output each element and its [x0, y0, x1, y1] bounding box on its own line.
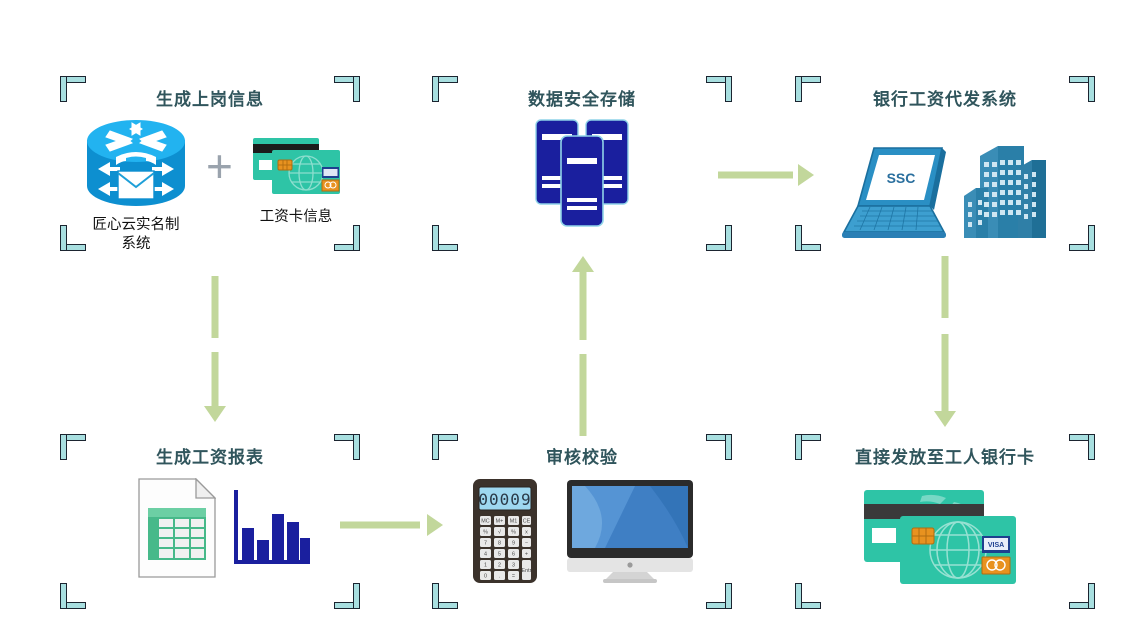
- svg-text:=: =: [512, 574, 515, 580]
- cell-title-audit-verification: 审核校验: [432, 443, 732, 468]
- arrow-report-to-audit: [340, 505, 460, 545]
- svg-text:M1: M1: [510, 519, 518, 525]
- arrow-onboarding-to-report: [195, 276, 235, 426]
- office-buildings-icon: [962, 138, 1050, 246]
- svg-text:MC: MC: [481, 519, 489, 525]
- svg-text:−: −: [525, 541, 528, 547]
- svg-text:+: +: [525, 552, 528, 558]
- bank-cards-icon: VISA: [862, 488, 1018, 586]
- spreadsheet-document-icon: [138, 478, 216, 578]
- cell-title-generate-salary-report: 生成工资报表: [60, 443, 360, 468]
- svg-text:.: .: [499, 574, 501, 580]
- svg-text:0: 0: [484, 574, 487, 580]
- cell-title-bank-payroll-system: 银行工资代发系统: [795, 85, 1095, 110]
- svg-text:Entr: Entr: [522, 568, 532, 574]
- cell-title-direct-payout-to-worker-card: 直接发放至工人银行卡: [795, 443, 1095, 468]
- bar-chart-icon: [230, 488, 312, 570]
- corner-bracket-bl: [432, 225, 458, 251]
- svg-text:M+: M+: [496, 519, 504, 525]
- svg-text:1: 1: [484, 563, 487, 569]
- desktop-monitor-icon: [565, 478, 695, 584]
- svg-text:4: 4: [484, 552, 487, 558]
- calculator-display-value: 00009: [478, 490, 531, 509]
- svg-text:8: 8: [498, 541, 501, 547]
- icon-label-realname-system: 匠心云实名制 系统: [70, 216, 202, 254]
- cell-title-generate-onboarding-info: 生成上岗信息: [60, 85, 360, 110]
- arrow-bank-to-payout: [925, 256, 965, 436]
- corner-bracket-br: [706, 583, 732, 609]
- svg-text:7: 7: [484, 541, 487, 547]
- corner-bracket-bl: [60, 583, 86, 609]
- calculator-icon: 00009 MCM+M1CE %√%x 789− 456+: [472, 478, 538, 584]
- corner-bracket-br: [334, 583, 360, 609]
- svg-text:6: 6: [512, 552, 515, 558]
- laptop-screen-text: SSC: [887, 170, 916, 186]
- corner-bracket-br: [334, 225, 360, 251]
- svg-text:5: 5: [498, 552, 501, 558]
- svg-text:2: 2: [498, 563, 501, 569]
- corner-bracket-bl: [432, 583, 458, 609]
- svg-text:9: 9: [512, 541, 515, 547]
- svg-text:CE: CE: [523, 519, 531, 525]
- corner-bracket-br: [1069, 225, 1095, 251]
- svg-text:x: x: [525, 530, 528, 536]
- diagram-canvas: 生成上岗信息: [0, 0, 1143, 641]
- cell-title-secure-data-storage: 数据安全存储: [432, 85, 732, 110]
- arrow-storage-to-bank: [718, 155, 828, 195]
- svg-text:%: %: [483, 530, 488, 536]
- plus-joiner-icon: +: [206, 143, 233, 189]
- network-router-cloud-icon: [80, 113, 192, 213]
- svg-text:3: 3: [512, 563, 515, 569]
- svg-text:%: %: [511, 530, 516, 536]
- salary-card-icon: [250, 134, 342, 198]
- corner-bracket-bl: [795, 225, 821, 251]
- corner-bracket-br: [1069, 583, 1095, 609]
- corner-bracket-br: [706, 225, 732, 251]
- arrow-audit-to-storage: [563, 256, 603, 436]
- laptop-icon: SSC: [838, 140, 950, 240]
- server-rack-icon: [534, 118, 630, 228]
- svg-text:√: √: [498, 529, 501, 536]
- card-brand-text: VISA: [988, 542, 1004, 549]
- icon-label-salary-card: 工资卡信息: [230, 208, 362, 227]
- corner-bracket-bl: [795, 583, 821, 609]
